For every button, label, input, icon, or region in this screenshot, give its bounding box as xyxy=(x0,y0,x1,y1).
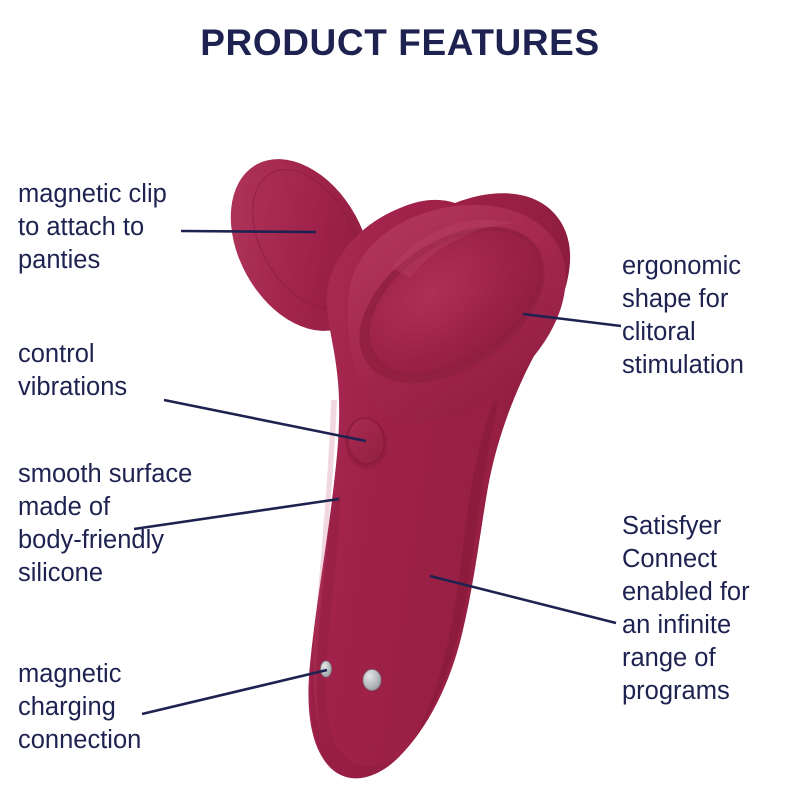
callout-magnetic-charging: magnetic charging connection xyxy=(18,658,141,757)
callout-magnetic-clip: magnetic clip to attach to panties xyxy=(18,178,167,277)
product-features-infographic: PRODUCT FEATURES xyxy=(0,0,800,800)
callout-ergonomic-shape: ergonomic shape for clitoral stimulation xyxy=(622,250,744,382)
charging-contact-large xyxy=(363,670,381,691)
main-body-part xyxy=(308,193,573,778)
callout-satisfyer-connect: Satisfyer Connect enabled for an infinit… xyxy=(622,510,750,708)
callout-control-vibrations: control vibrations xyxy=(18,338,127,404)
charging-contact-small xyxy=(321,661,332,677)
callout-smooth-surface: smooth surface made of body-friendly sil… xyxy=(18,458,192,590)
